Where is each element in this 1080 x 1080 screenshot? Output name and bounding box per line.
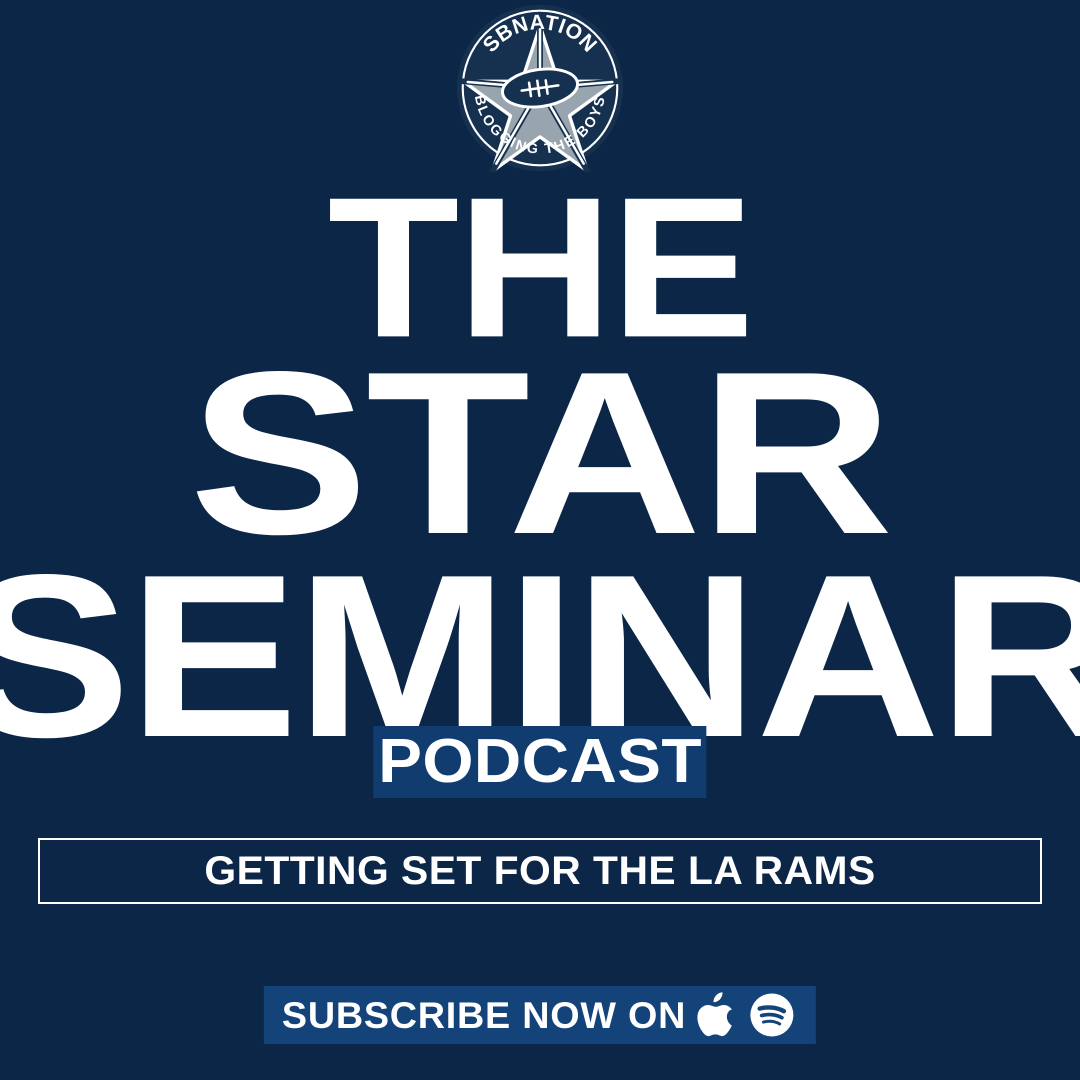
- title-line-star: STAR: [0, 357, 1080, 552]
- apple-icon[interactable]: [696, 992, 736, 1038]
- podcast-badge-label: PODCAST: [378, 731, 702, 793]
- episode-title-text: GETTING SET FOR THE LA RAMS: [204, 851, 875, 891]
- podcast-badge: PODCAST: [373, 726, 706, 798]
- episode-title-box: GETTING SET FOR THE LA RAMS: [38, 838, 1042, 904]
- sb-nation-logo: SBNATION BLOGGING THE BOYS: [456, 4, 624, 172]
- subscribe-label: SUBSCRIBE NOW ON: [282, 997, 686, 1034]
- subscribe-bar[interactable]: SUBSCRIBE NOW ON: [264, 986, 816, 1044]
- show-title: THE STAR SEMINAR: [0, 186, 1080, 754]
- spotify-icon[interactable]: [750, 993, 794, 1037]
- podcast-cover-art: SBNATION BLOGGING THE BOYS THE STAR SEMI…: [0, 0, 1080, 1080]
